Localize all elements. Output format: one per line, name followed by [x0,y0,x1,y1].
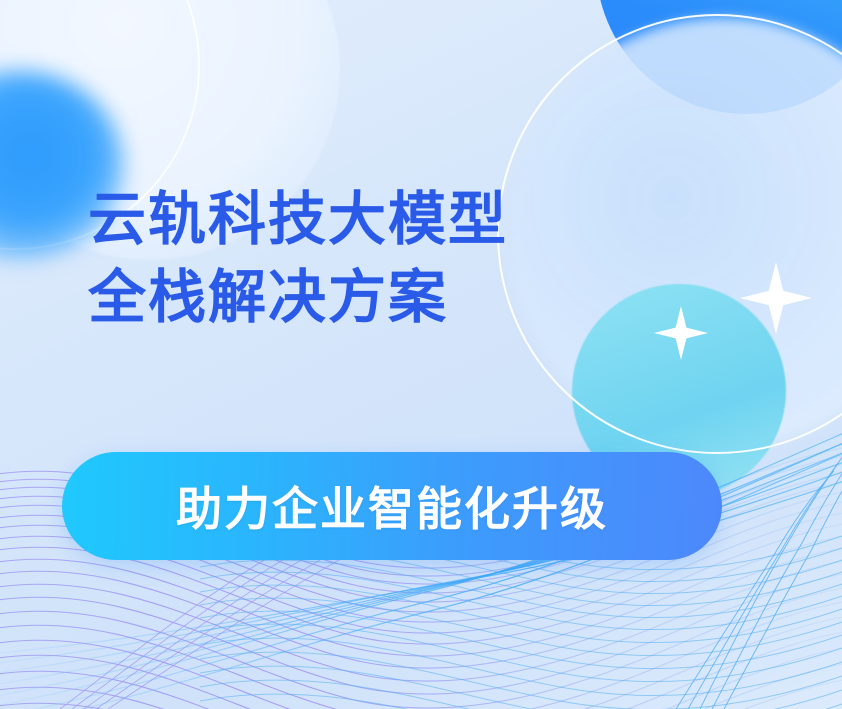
blue-circle-top-right-decoration [596,0,842,114]
tagline-pill-banner[interactable]: 助力企业智能化升级 [62,452,722,560]
headline-line-2: 全栈解决方案 [88,264,508,332]
white-ring-large-right-decoration [497,14,842,454]
tagline-pill-label: 助力企业智能化升级 [176,473,608,539]
poster-canvas: 云轨科技大模型 全栈解决方案 助力企业智能化升级 [0,0,842,709]
headline-line-1: 云轨科技大模型 [88,187,508,252]
sparkle-star-icon [654,306,708,360]
headline: 云轨科技大模型 全栈解决方案 [88,186,508,333]
pale-circle-top-right-decoration [508,18,842,448]
sparkle-star-large-icon [740,262,812,334]
